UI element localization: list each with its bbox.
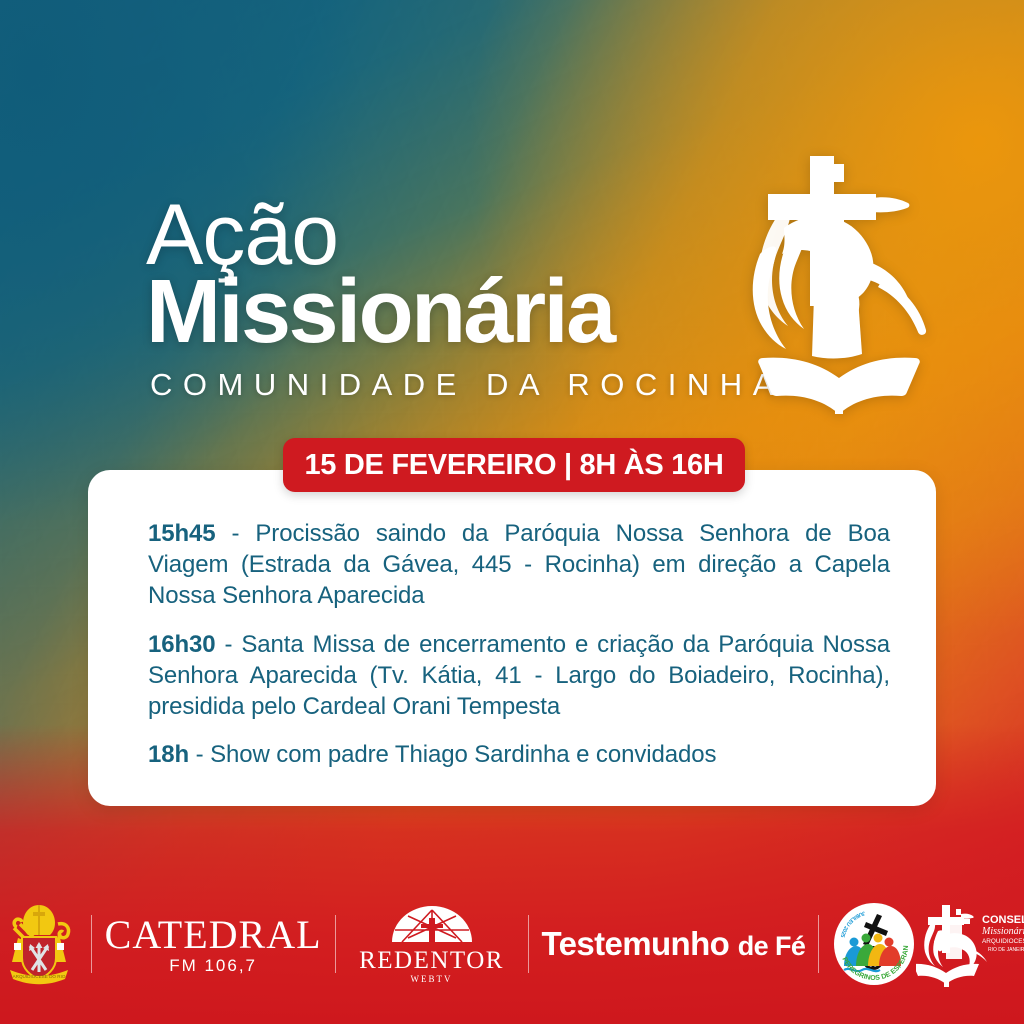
- redentor-arch-icon: [383, 904, 481, 944]
- schedule-item-dash: -: [216, 631, 242, 658]
- svg-text:CONSELHO: CONSELHO: [982, 914, 1024, 926]
- schedule-item-text: Show com padre Thiago Sardinha e convida…: [210, 741, 716, 768]
- testemunho-label: Testemunho: [541, 925, 729, 962]
- title-line-2: Missionária: [146, 270, 786, 356]
- catedral-sublabel: FM 106,7: [105, 957, 322, 974]
- redentor-label: REDENTOR: [359, 947, 504, 974]
- schedule-item: 18h - Show com padre Thiago Sardinha e c…: [148, 739, 890, 770]
- redentor-sublabel: WEBTV: [348, 975, 515, 984]
- logo-divider: [335, 915, 336, 973]
- schedule-item-dash: -: [216, 520, 256, 547]
- schedule-item-dash: -: [189, 741, 210, 768]
- schedule-item-time: 16h30: [148, 631, 216, 658]
- catedral-label: CATEDRAL: [105, 912, 322, 957]
- svg-text:RIO DE JANEIRO: RIO DE JANEIRO: [988, 947, 1024, 953]
- poster-headline: Ação Missionária COMUNIDADE DA ROCINHA: [146, 196, 786, 403]
- jubileu-2025-peregrinos-logo: JUBILEU 2025 PEREGRINOS DE ESPERANÇA: [832, 902, 916, 986]
- svg-text:Missionário: Missionário: [981, 926, 1024, 937]
- footer-logo-bar: ARQUIDIOCESE DO RIO CATEDRAL FM 106,7 RE…: [0, 898, 1024, 990]
- schedule-item: 15h45 - Procissão saindo da Paróquia Nos…: [148, 518, 890, 612]
- testemunho-de-fe-logo: Testemunho de Fé: [541, 925, 805, 963]
- schedule-item-time: 15h45: [148, 520, 216, 547]
- poster-canvas: Ação Missionária COMUNIDADE DA ROCINHA: [0, 0, 1024, 1024]
- schedule-item-text: Santa Missa de encerramento e criação da…: [148, 631, 890, 720]
- catedral-fm-logo: CATEDRAL FM 106,7: [105, 915, 322, 974]
- date-badge-label: 15 DE FEVEREIRO | 8H ÀS 16H: [304, 449, 723, 482]
- logo-divider: [818, 915, 819, 973]
- redentor-webtv-logo: REDENTOR WEBTV: [348, 904, 515, 984]
- logo-divider: [528, 915, 529, 973]
- poster-subtitle: COMUNIDADE DA ROCINHA: [150, 367, 786, 403]
- schedule-item-time: 18h: [148, 741, 189, 768]
- date-badge: 15 DE FEVEREIRO | 8H ÀS 16H: [283, 438, 745, 492]
- cross-dove-flame-book-emblem: [732, 142, 946, 420]
- schedule-item: 16h30 - Santa Missa de encerramento e cr…: [148, 629, 890, 723]
- schedule-card: 15h45 - Procissão saindo da Paróquia Nos…: [88, 470, 936, 806]
- svg-text:ARQUIDIOCESE DO RIO: ARQUIDIOCESE DO RIO: [13, 974, 66, 979]
- conselho-missionario-logo: CONSELHO Missionário ARQUIDIOCESANO RIO …: [916, 901, 1024, 987]
- schedule-item-text: Procissão saindo da Paróquia Nossa Senho…: [148, 520, 890, 609]
- logo-divider: [91, 915, 92, 973]
- testemunho-sublabel: de Fé: [738, 931, 806, 961]
- svg-text:ARQUIDIOCESANO: ARQUIDIOCESANO: [982, 938, 1024, 945]
- arquidiocese-crest-logo: ARQUIDIOCESE DO RIO: [0, 902, 78, 986]
